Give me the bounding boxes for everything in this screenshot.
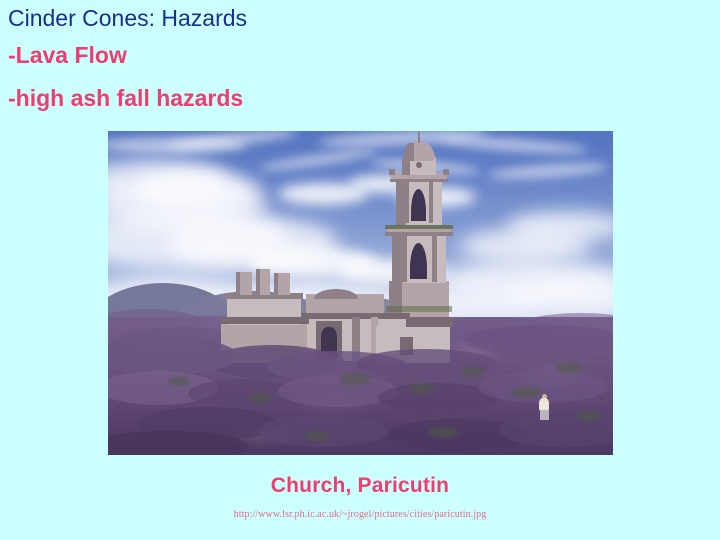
tower-finial (389, 169, 395, 175)
scrub-vegetation (512, 387, 540, 398)
tower-finial (443, 169, 449, 175)
tower-pilaster (405, 181, 409, 223)
scrub-vegetation (248, 393, 272, 403)
tower-dome-shadow (404, 143, 414, 161)
photo-caption: Church, Paricutin (0, 474, 720, 498)
scrub-vegetation (428, 427, 458, 438)
tower-cornice-lower-edge (385, 232, 453, 236)
tower-pilaster (402, 234, 407, 282)
photo-source-url: http://www.lsr.ph.ic.ac.uk/~jrogel/pictu… (0, 509, 720, 520)
broken-pinnacle-shadow (274, 273, 278, 295)
scrub-vegetation (556, 363, 582, 373)
bullet-lava-flow: -Lava Flow (8, 41, 127, 69)
broken-pinnacle-shadow (256, 269, 260, 295)
lava-ridge (464, 325, 613, 355)
bullet-ash-fall: -high ash fall hazards (8, 84, 243, 112)
paricutin-church-photo (108, 131, 613, 455)
scrub-vegetation (168, 377, 190, 386)
tower-pilaster (432, 234, 437, 282)
cloud-cumulus (138, 171, 258, 213)
scrub-vegetation (340, 373, 370, 385)
scrub-vegetation (460, 367, 484, 377)
tower-lantern-oculus (416, 162, 422, 168)
photo-frame (108, 131, 613, 455)
scrub-vegetation (304, 431, 330, 441)
person-legs (540, 410, 549, 420)
tower-cornice-upper-edge (390, 179, 448, 182)
broken-pinnacle-shadow (236, 272, 240, 295)
tower-moss (386, 306, 452, 312)
slide-canvas: Cinder Cones: Hazards -Lava Flow -high a… (0, 0, 720, 540)
tower-pilaster (429, 181, 433, 223)
tower-cross-spike (418, 132, 420, 143)
tower-moss (385, 225, 453, 229)
scrub-vegetation (576, 411, 602, 421)
transept-cornice (221, 317, 309, 324)
page-title: Cinder Cones: Hazards (8, 4, 247, 32)
scrub-vegetation (408, 383, 434, 394)
